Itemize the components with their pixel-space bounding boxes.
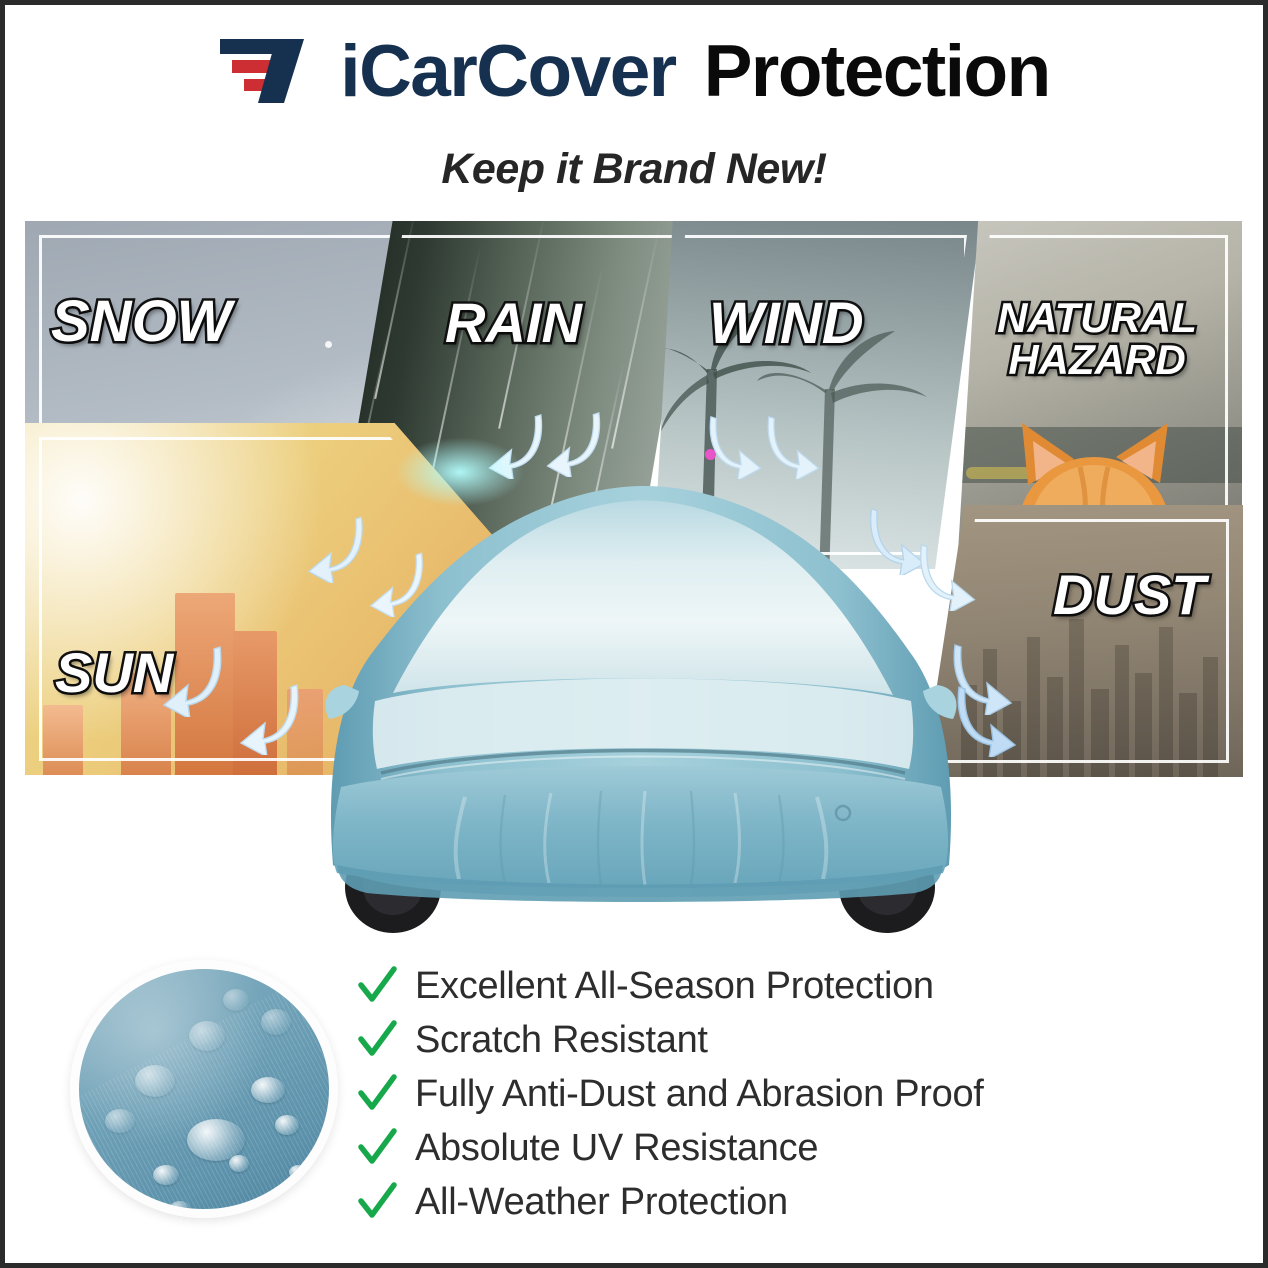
check-icon <box>357 1074 397 1114</box>
image-frame: iCarCover Protection Keep it Brand New! … <box>0 0 1268 1268</box>
feature-label: All-Weather Protection <box>415 1181 788 1224</box>
check-icon <box>357 966 397 1006</box>
page-title: Protection <box>704 35 1050 108</box>
tagline: Keep it Brand New! <box>5 145 1263 194</box>
brand-name: iCarCover <box>340 35 675 108</box>
list-item: Excellent All-Season Protection <box>357 960 1177 1012</box>
icarcover-wing-logo-icon <box>218 33 330 109</box>
check-icon <box>357 1128 397 1168</box>
list-item: Absolute UV Resistance <box>357 1122 1177 1174</box>
title-row: iCarCover Protection <box>5 33 1263 109</box>
feature-label: Excellent All-Season Protection <box>415 965 934 1008</box>
panel-label-rain: RAIN <box>445 295 582 351</box>
water-beading-fabric-swatch-icon <box>70 960 338 1218</box>
panel-dust: DUST <box>923 505 1243 777</box>
check-icon <box>357 1020 397 1060</box>
panel-label-natural-hazard: NATURAL HAZARD <box>952 297 1242 381</box>
poster-stage: iCarCover Protection Keep it Brand New! … <box>5 5 1263 1263</box>
list-item: Fully Anti-Dust and Abrasion Proof <box>357 1068 1177 1120</box>
panel-label-snow: SNOW <box>51 293 231 351</box>
feature-label: Fully Anti-Dust and Abrasion Proof <box>415 1073 984 1116</box>
covered-car-product-image <box>315 435 965 945</box>
list-item: All-Weather Protection <box>357 1176 1177 1228</box>
check-icon <box>357 1182 397 1222</box>
feature-label: Scratch Resistant <box>415 1019 708 1062</box>
panel-label-wind: WIND <box>709 295 864 353</box>
feature-list: Excellent All-Season Protection Scratch … <box>357 960 1177 1230</box>
feature-label: Absolute UV Resistance <box>415 1127 818 1170</box>
panel-label-dust: DUST <box>1053 567 1205 623</box>
list-item: Scratch Resistant <box>357 1014 1177 1066</box>
poster-header: iCarCover Protection Keep it Brand New! <box>5 5 1263 205</box>
panel-label-sun: SUN <box>55 645 173 701</box>
